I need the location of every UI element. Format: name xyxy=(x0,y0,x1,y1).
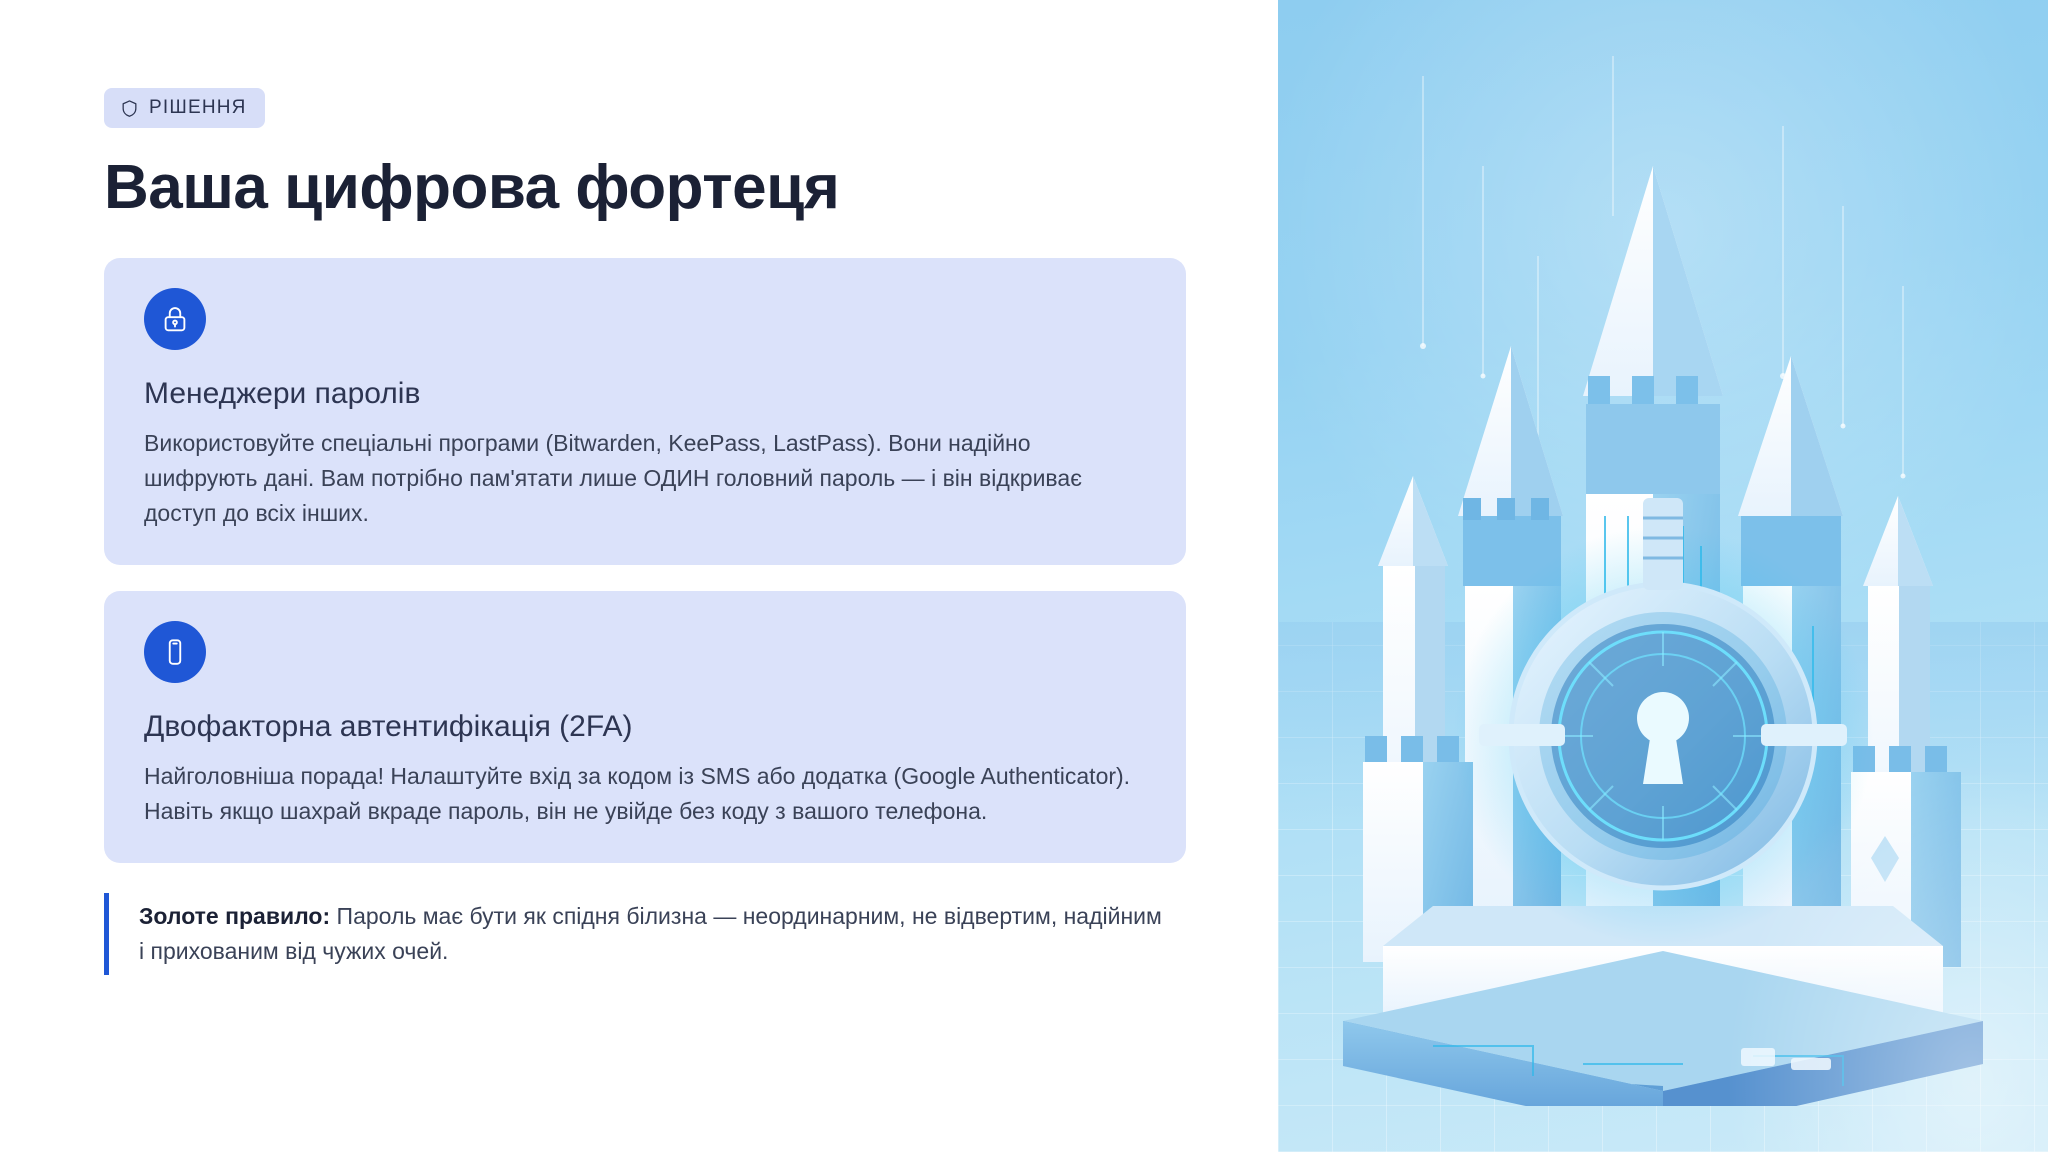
content-panel: РІШЕННЯ Ваша цифрова фортеця Менеджери п… xyxy=(0,0,1278,1152)
golden-rule-label: Золоте правило: xyxy=(139,903,330,929)
golden-rule-text: Золоте правило: Пароль має бути як спідн… xyxy=(139,899,1169,969)
battlements-left xyxy=(1463,498,1549,520)
golden-rule-callout: Золоте правило: Пароль має бути як спідн… xyxy=(104,893,1194,975)
card-body: Використовуйте спеціальні програми (Bitw… xyxy=(144,426,1144,531)
card-body: Найголовніша порада! Налаштуйте вхід за … xyxy=(144,759,1144,829)
smartphone-icon xyxy=(144,621,206,683)
lock-icon xyxy=(144,288,206,350)
battlements-center xyxy=(1588,376,1698,404)
battlements-bastion-left xyxy=(1365,736,1459,762)
badge-label: РІШЕННЯ xyxy=(149,97,247,119)
shield-icon xyxy=(120,99,139,118)
page-title: Ваша цифрова фортеця xyxy=(104,154,1278,222)
vault-conduit xyxy=(1643,498,1683,590)
slide: РІШЕННЯ Ваша цифрова фортеця Менеджери п… xyxy=(0,0,2048,1152)
info-card-password-managers: Менеджери паролів Використовуйте спеціал… xyxy=(104,258,1186,565)
solution-badge: РІШЕННЯ xyxy=(104,88,265,128)
card-title: Двофакторна автентифікація (2FA) xyxy=(144,709,1146,745)
illustration-panel xyxy=(1278,0,2048,1152)
corner-highlight xyxy=(1725,760,2048,1152)
card-title: Менеджери паролів xyxy=(144,376,1146,412)
info-card-two-factor-auth: Двофакторна автентифікація (2FA) Найголо… xyxy=(104,591,1186,863)
